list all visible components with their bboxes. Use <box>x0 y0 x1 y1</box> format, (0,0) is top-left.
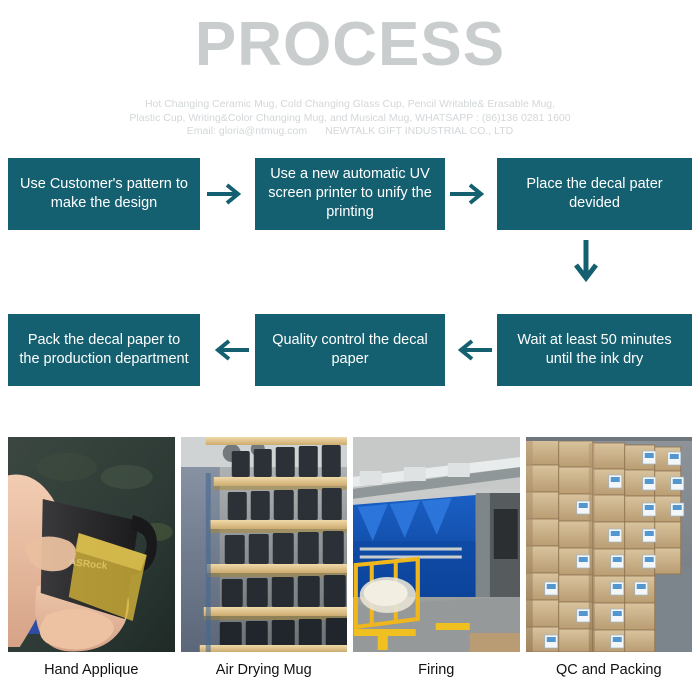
process-step-6-label: Pack the decal paper to the production d… <box>16 331 192 369</box>
caption-qc-and-packing: QC and Packing <box>526 655 693 678</box>
page-header: PROCESS Hot Changing Ceramic Mug, Cold C… <box>0 0 700 139</box>
process-step-2[interactable]: Use a new automatic UV screen printer to… <box>255 158 445 230</box>
caption-firing: Firing <box>353 655 520 678</box>
process-step-2-label: Use a new automatic UV screen printer to… <box>263 165 437 222</box>
arrow-left-icon-2 <box>203 335 253 365</box>
page-title: PROCESS <box>0 6 700 76</box>
process-step-1[interactable]: Use Customer's pattern to make the desig… <box>8 158 200 230</box>
arrow-right-icon-1 <box>203 179 253 209</box>
process-step-4[interactable]: Wait at least 50 minutes until the ink d… <box>497 314 692 386</box>
photo-caption-row: Hand Applique Air Drying Mug Firing QC a… <box>0 655 700 678</box>
contact-info-block: Hot Changing Ceramic Mug, Cold Changing … <box>0 98 700 139</box>
contact-line-3: Email: gloria@ntmug.comNEWTALK GIFT INDU… <box>0 125 700 139</box>
caption-air-drying-mug: Air Drying Mug <box>181 655 348 678</box>
photo-gallery: ASRock <box>0 437 700 652</box>
process-flow-diagram: Use Customer's pattern to make the desig… <box>0 151 700 411</box>
company-name: NEWTALK GIFT INDUSTRIAL CO., LTD <box>325 125 513 137</box>
process-step-1-label: Use Customer's pattern to make the desig… <box>16 175 192 213</box>
process-step-3-label: Place the decal pater devided <box>505 175 684 213</box>
photo-hand-applique: ASRock <box>8 437 175 652</box>
photo-firing <box>353 437 520 652</box>
contact-line-1: Hot Changing Ceramic Mug, Cold Changing … <box>0 98 700 112</box>
process-step-5-label: Quality control the decal paper <box>263 331 437 369</box>
process-step-3[interactable]: Place the decal pater devided <box>497 158 692 230</box>
photo-air-drying-mug <box>181 437 348 652</box>
process-step-5[interactable]: Quality control the decal paper <box>255 314 445 386</box>
photo-qc-and-packing <box>526 437 693 652</box>
arrow-left-icon-1 <box>447 335 495 365</box>
contact-line-2: Plastic Cup, Writing&Color Changing Mug,… <box>0 112 700 126</box>
process-step-6[interactable]: Pack the decal paper to the production d… <box>8 314 200 386</box>
process-step-4-label: Wait at least 50 minutes until the ink d… <box>505 331 684 369</box>
email-text: Email: gloria@ntmug.com <box>187 125 307 137</box>
arrow-right-icon-2 <box>447 179 495 209</box>
arrow-down-icon <box>570 237 602 289</box>
caption-hand-applique: Hand Applique <box>8 655 175 678</box>
